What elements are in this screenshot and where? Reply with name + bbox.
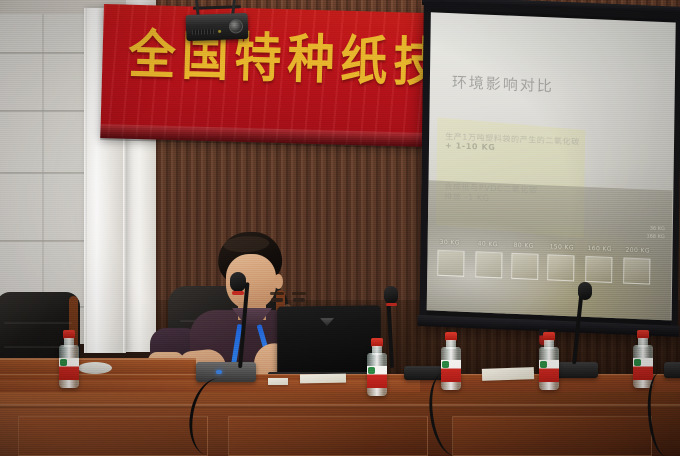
power-led-icon xyxy=(216,370,222,374)
slide-corner-labels: 36 KG 168 KG xyxy=(646,225,664,241)
kg-label-4: 150 KG xyxy=(550,243,574,251)
microphone-head-icon xyxy=(578,282,592,300)
slide-title: 环境影响对比 xyxy=(452,71,554,96)
microphone-base[interactable] xyxy=(196,362,256,382)
table-rail xyxy=(0,404,680,408)
banner-text: 全国特种纸技术交 xyxy=(128,29,459,91)
presenter-ear xyxy=(274,274,283,289)
ashtray-dish xyxy=(78,362,112,374)
ceiling-projector xyxy=(186,13,249,41)
projection-screen: 环境影响对比 生产1万吨塑料袋的产生的二氧化碳 + 1-10 KG 合成纸与PV… xyxy=(420,2,680,335)
water-bottle xyxy=(632,330,654,388)
kg-label-1: 30 KG xyxy=(440,239,460,247)
kg-label-5: 160 KG xyxy=(588,245,612,253)
conference-photo-scene: 全国特种纸技术交 环境影响对比 生产1万吨塑料袋的产生的二氧化碳 + 1-10 … xyxy=(0,0,680,456)
screen-surface: 环境影响对比 生产1万吨塑料袋的产生的二氧化碳 + 1-10 KG 合成纸与PV… xyxy=(427,12,676,320)
kg-label-6: 200 KG xyxy=(626,247,650,255)
kg-label-2: 40 KG xyxy=(478,240,498,248)
slide-corner-label-1: 36 KG xyxy=(647,225,665,233)
laptop-logo-icon xyxy=(320,318,334,326)
water-bottle xyxy=(366,338,388,396)
paper-sheet xyxy=(482,367,534,381)
microphone-indicator-ring xyxy=(386,303,397,306)
red-event-banner: 全国特种纸技术交 xyxy=(100,4,452,148)
slide-corner-label-2: 168 KG xyxy=(646,233,664,241)
projector-lens-icon xyxy=(229,19,243,33)
microphone-head-icon xyxy=(384,286,398,304)
paper-sheet xyxy=(268,378,288,385)
projector-led-icon xyxy=(218,30,221,33)
kg-label-3: 80 KG xyxy=(514,242,534,250)
paper-sheet xyxy=(300,374,346,384)
table-panel xyxy=(18,416,208,456)
microphone-indicator-ring xyxy=(232,291,244,295)
table-panel xyxy=(228,416,428,456)
table-panel xyxy=(452,416,652,456)
projector-vent xyxy=(192,29,214,35)
water-bottle xyxy=(538,332,560,390)
water-bottle xyxy=(58,330,80,388)
microphone-head-icon xyxy=(230,272,246,292)
